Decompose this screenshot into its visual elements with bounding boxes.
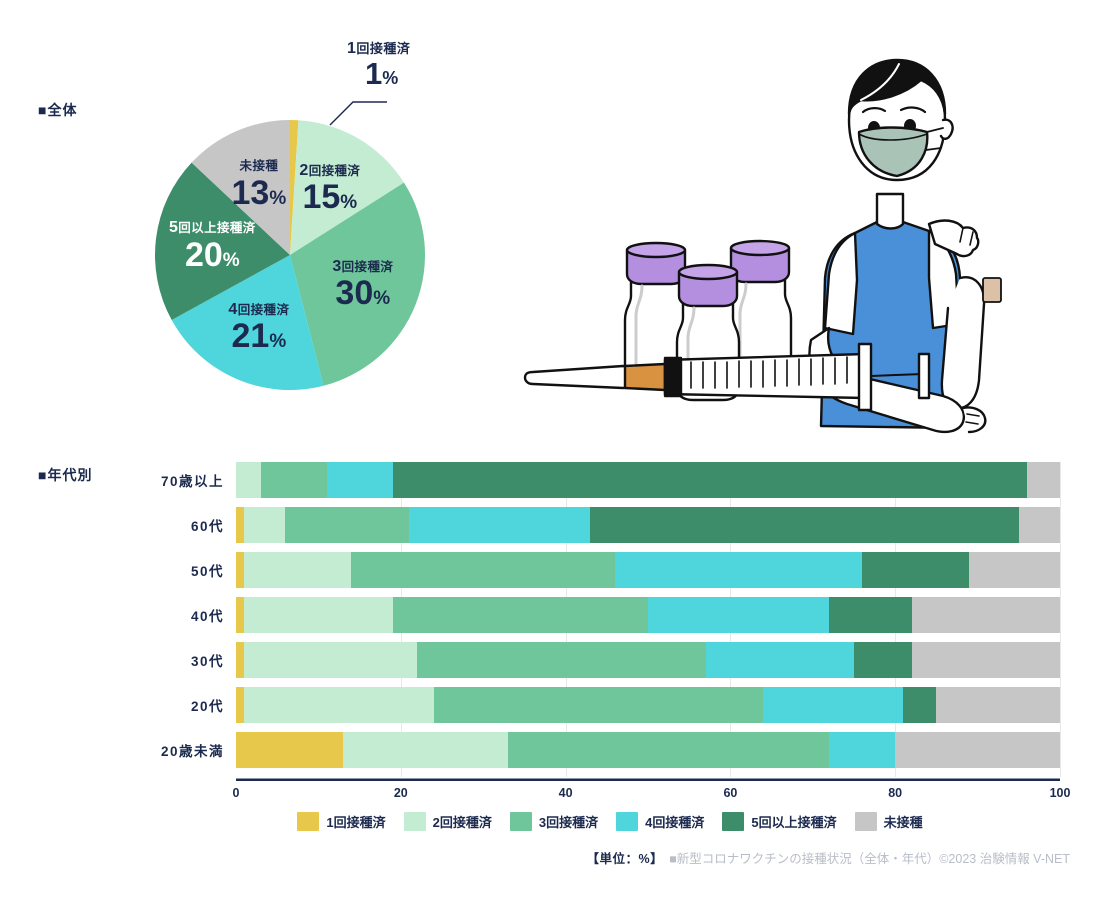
bar-row: 60代 (150, 507, 1060, 543)
bar-row-label: 30代 (150, 650, 236, 670)
section-label-overall: ■全体 (38, 100, 77, 120)
chart-legend: 1回接種済2回接種済3回接種済4回接種済5回以上接種済未接種 (150, 812, 1070, 831)
bar-row-label: 50代 (150, 560, 236, 580)
pie-callout-value: 1% (365, 56, 398, 92)
bar-segment-dose3 (417, 642, 705, 678)
bar-track (236, 462, 1060, 498)
x-axis-ticks: 020406080100 (236, 786, 1060, 808)
bar-rows-container: 70歳以上60代50代40代30代20代20歳未満 (150, 462, 1060, 777)
pie-callout-name-lead: 1 (347, 40, 356, 57)
bar-segment-dose4 (409, 507, 590, 543)
pie-svg (135, 30, 515, 440)
bar-track (236, 687, 1060, 723)
bar-segment-none (912, 642, 1060, 678)
pie-callout-percent: % (382, 68, 398, 88)
bar-row: 30代 (150, 642, 1060, 678)
gridline (1060, 462, 1061, 777)
bar-segment-dose2 (244, 507, 285, 543)
x-tick-label: 100 (1050, 786, 1071, 800)
bar-x-axis: 020406080100 (236, 778, 1060, 808)
x-tick-label: 40 (559, 786, 573, 800)
bar-row: 50代 (150, 552, 1060, 588)
bar-row: 40代 (150, 597, 1060, 633)
bar-segment-dose4 (615, 552, 862, 588)
bar-segment-dose3 (261, 462, 327, 498)
bar-segment-dose1 (236, 597, 244, 633)
pie-callout-leader-line (330, 102, 387, 125)
bar-track (236, 507, 1060, 543)
bar-segment-dose1 (236, 507, 244, 543)
pie-callout-name-rest: 回接種済 (356, 41, 410, 56)
bar-segment-dose3 (285, 507, 409, 543)
bar-segment-dose3 (351, 552, 615, 588)
legend-label-dose5p: 5回以上接種済 (751, 812, 836, 831)
pie-callout-number: 1 (365, 56, 382, 91)
bar-row-label: 20代 (150, 695, 236, 715)
bar-segment-dose1 (236, 732, 343, 768)
legend-item-dose2[interactable]: 2回接種済 (404, 812, 492, 831)
x-tick-label: 80 (888, 786, 902, 800)
bar-segment-dose5p (590, 507, 1018, 543)
bar-segment-dose5p (862, 552, 969, 588)
legend-swatch-dose4 (616, 812, 638, 831)
bar-segment-dose2 (244, 642, 417, 678)
bar-segment-dose5p (854, 642, 912, 678)
legend-label-none: 未接種 (884, 812, 923, 831)
x-axis-line (236, 778, 1060, 781)
bar-segment-dose5p (393, 462, 1027, 498)
bar-segment-none (1027, 462, 1060, 498)
chart-footer: 【単位：%】■新型コロナワクチンの接種状況（全体・年代）©2023 治験情報 V… (0, 848, 1070, 867)
legend-swatch-none (855, 812, 877, 831)
legend-label-dose4: 4回接種済 (645, 812, 704, 831)
bar-row-label: 60代 (150, 515, 236, 535)
age-group-bar-chart: 70歳以上60代50代40代30代20代20歳未満 020406080100 (150, 462, 1070, 792)
bar-segment-none (912, 597, 1060, 633)
overall-pie-chart: 1回接種済 1% 2回接種済15%3回接種済30%4回接種済21%5回以上接種済… (135, 30, 515, 440)
bar-segment-dose3 (508, 732, 829, 768)
pie-callout-name: 1回接種済 (347, 38, 410, 58)
x-tick-label: 60 (723, 786, 737, 800)
bar-segment-dose5p (829, 597, 911, 633)
bar-segment-dose4 (327, 462, 393, 498)
bar-segment-dose2 (236, 462, 261, 498)
bar-segment-dose3 (393, 597, 648, 633)
legend-item-none[interactable]: 未接種 (855, 812, 923, 831)
bar-row: 70歳以上 (150, 462, 1060, 498)
x-tick-label: 0 (233, 786, 240, 800)
bar-track (236, 552, 1060, 588)
bar-track (236, 732, 1060, 768)
bar-row: 20歳未満 (150, 732, 1060, 768)
legend-label-dose3: 3回接種済 (539, 812, 598, 831)
bar-segment-dose4 (763, 687, 903, 723)
bar-segment-none (969, 552, 1060, 588)
bar-row-label: 40代 (150, 605, 236, 625)
bar-segment-none (1019, 507, 1060, 543)
bar-segment-dose4 (829, 732, 895, 768)
bar-segment-dose5p (903, 687, 936, 723)
bar-row-label: 20歳未満 (150, 740, 236, 760)
bar-segment-dose2 (244, 597, 392, 633)
bar-segment-dose4 (648, 597, 829, 633)
bar-row: 20代 (150, 687, 1060, 723)
bar-segment-dose1 (236, 552, 244, 588)
footer-unit: 【単位：%】 (587, 852, 664, 866)
bar-row-label: 70歳以上 (150, 470, 236, 490)
legend-item-dose3[interactable]: 3回接種済 (510, 812, 598, 831)
bar-segment-dose4 (706, 642, 854, 678)
vaccination-illustration (505, 28, 1085, 443)
pie-slice-group (155, 120, 425, 390)
legend-item-dose1[interactable]: 1回接種済 (297, 812, 385, 831)
bar-segment-dose1 (236, 642, 244, 678)
section-label-by-age: ■年代別 (38, 465, 92, 485)
footer-credit: ■新型コロナワクチンの接種状況（全体・年代）©2023 治験情報 V-NET (669, 852, 1070, 866)
bar-segment-none (936, 687, 1060, 723)
legend-label-dose2: 2回接種済 (433, 812, 492, 831)
legend-swatch-dose1 (297, 812, 319, 831)
bar-segment-dose3 (434, 687, 764, 723)
bar-segment-dose1 (236, 687, 244, 723)
bar-track (236, 597, 1060, 633)
legend-item-dose5p[interactable]: 5回以上接種済 (722, 812, 836, 831)
bar-segment-none (895, 732, 1060, 768)
bar-track (236, 642, 1060, 678)
bar-segment-dose2 (244, 552, 351, 588)
x-tick-label: 20 (394, 786, 408, 800)
illustration-svg (505, 28, 1085, 443)
legend-item-dose4[interactable]: 4回接種済 (616, 812, 704, 831)
legend-swatch-dose2 (404, 812, 426, 831)
bar-segment-dose2 (343, 732, 508, 768)
legend-swatch-dose5p (722, 812, 744, 831)
bar-segment-dose2 (244, 687, 434, 723)
legend-swatch-dose3 (510, 812, 532, 831)
legend-label-dose1: 1回接種済 (326, 812, 385, 831)
